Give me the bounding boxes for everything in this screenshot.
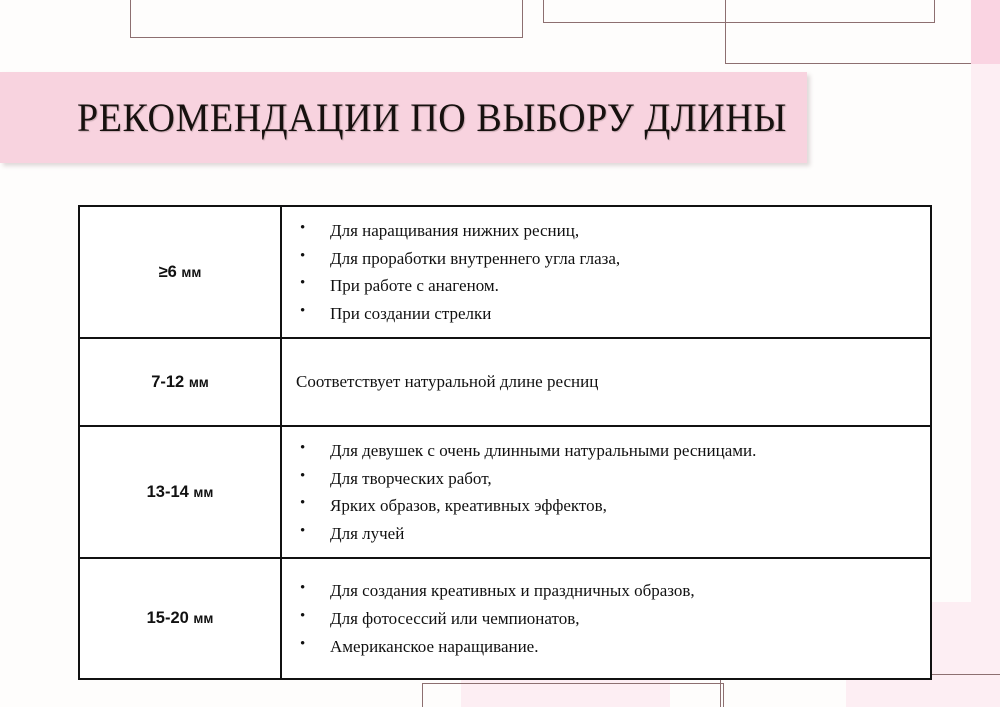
table-cell-details: Соответствует натуральной длине ресниц <box>281 338 931 426</box>
list-item: Для создания креативных и праздничных об… <box>292 577 922 605</box>
length-recommendation-table: ≥6 мм Для наращивания нижних ресниц, Для… <box>78 205 932 680</box>
decor-rect-bottom-left <box>422 683 724 707</box>
range-unit: мм <box>189 375 209 390</box>
range-value: 15-20 <box>147 609 189 627</box>
table-row: ≥6 мм Для наращивания нижних ресниц, Для… <box>79 206 931 338</box>
list-item: Для девушек с очень длинными натуральным… <box>292 437 922 465</box>
decor-strip-right-top <box>971 0 1000 64</box>
table-cell-range: 13-14 мм <box>79 426 281 558</box>
detail-bullet-list: Для наращивания нижних ресниц, Для прора… <box>292 217 922 327</box>
table-cell-range: 15-20 мм <box>79 558 281 679</box>
list-item: Для фотосессий или чемпионатов, <box>292 605 922 633</box>
table-row: 7-12 мм Соответствует натуральной длине … <box>79 338 931 426</box>
table-cell-range: 7-12 мм <box>79 338 281 426</box>
list-item: Для лучей <box>292 520 922 548</box>
list-item: Для наращивания нижних ресниц, <box>292 217 922 245</box>
range-value: ≥6 <box>159 263 177 281</box>
detail-bullet-list: Для девушек с очень длинными натуральным… <box>292 437 922 547</box>
list-item: При работе с анагеном. <box>292 272 922 300</box>
table-cell-details: Для девушек с очень длинными натуральным… <box>281 426 931 558</box>
detail-text: Соответствует натуральной длине ресниц <box>296 372 922 392</box>
range-unit: мм <box>181 265 201 280</box>
range-unit: мм <box>193 611 213 626</box>
list-item: При создании стрелки <box>292 300 922 328</box>
decor-strip-right <box>971 0 1000 707</box>
table-row: 15-20 мм Для создания креативных и празд… <box>79 558 931 679</box>
list-item: Ярких образов, креативных эффектов, <box>292 492 922 520</box>
range-value: 7-12 <box>151 373 184 391</box>
decor-rect-top-left <box>130 0 523 38</box>
table-cell-details: Для создания креативных и праздничных об… <box>281 558 931 679</box>
title-banner: РЕКОМЕНДАЦИИ ПО ВЫБОРУ ДЛИНЫ <box>0 72 807 163</box>
list-item: Американское наращивание. <box>292 633 922 661</box>
page-title: РЕКОМЕНДАЦИИ ПО ВЫБОРУ ДЛИНЫ <box>77 94 787 141</box>
table-row: 13-14 мм Для девушек с очень длинными на… <box>79 426 931 558</box>
list-item: Для творческих работ, <box>292 465 922 493</box>
list-item: Для проработки внутреннего угла глаза, <box>292 245 922 273</box>
range-unit: мм <box>193 485 213 500</box>
decor-rect-top-right-outer <box>725 0 1000 64</box>
table-cell-range: ≥6 мм <box>79 206 281 338</box>
range-value: 13-14 <box>147 483 189 501</box>
table-cell-details: Для наращивания нижних ресниц, Для прора… <box>281 206 931 338</box>
detail-bullet-list: Для создания креативных и праздничных об… <box>292 577 922 660</box>
slide-canvas: РЕКОМЕНДАЦИИ ПО ВЫБОРУ ДЛИНЫ ≥6 мм Для н… <box>0 0 1000 707</box>
